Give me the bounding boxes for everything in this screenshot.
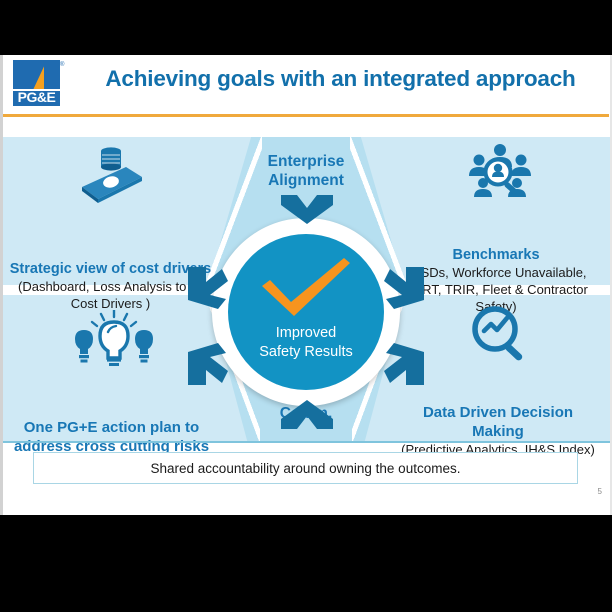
callout-box[interactable]: Shared accountability around owning the … xyxy=(33,452,578,484)
orange-checkmark-icon xyxy=(258,258,354,318)
pge-logo: PG&E ® xyxy=(13,60,65,108)
quadrant-text-bottom-right: Data Driven Decision Making (Predictive … xyxy=(396,403,600,458)
screenshot-frame: PG&E ® Achieving goals with an integrate… xyxy=(0,0,612,612)
center-label-line-2: Safety Results xyxy=(259,343,353,362)
quadrant-heading-top-right: Benchmarks xyxy=(394,247,598,264)
people-magnifier-icon xyxy=(469,143,531,199)
quadrant-detail-top-left: (Dashboard, Loss Analysis to ID Cost Dri… xyxy=(18,279,203,311)
callout-text: Shared accountability around owning the … xyxy=(151,461,461,476)
quadrant-heading-bottom-left: One PG+E action plan to address cross cu… xyxy=(8,418,215,456)
panel-bottom-rule xyxy=(3,441,610,443)
logo-wordmark: PG&E xyxy=(13,89,60,106)
presentation-slide: PG&E ® Achieving goals with an integrate… xyxy=(0,55,612,515)
center-circle-label: Improved Safety Results xyxy=(259,324,353,362)
chevron-arrow-bottom-icon xyxy=(281,400,333,430)
wedge-line-1: Enterprise xyxy=(234,152,378,171)
chevron-arrow-bottom-left-icon xyxy=(186,343,228,385)
quadrant-heading-bottom-right: Data Driven Decision Making xyxy=(396,403,600,441)
chevron-arrow-top-icon xyxy=(281,195,333,225)
wedge-label-enterprise-alignment: Enterprise Alignment xyxy=(234,152,378,190)
page-number: 5 xyxy=(598,487,602,496)
slide-header: PG&E ® Achieving goals with an integrate… xyxy=(3,55,610,117)
quadrant-text-top-left: Strategic view of cost drivers (Dashboar… xyxy=(8,260,213,312)
quadrant-text-bottom-left: One PG+E action plan to address cross cu… xyxy=(8,418,215,456)
logo-registered-mark: ® xyxy=(60,62,64,68)
chevron-arrow-bottom-right-icon xyxy=(384,343,426,385)
center-label-line-1: Improved xyxy=(259,324,353,343)
lightbulbs-icon xyxy=(74,310,154,366)
quadrant-heading-top-left: Strategic view of cost drivers xyxy=(10,261,211,277)
center-circle[interactable]: Improved Safety Results xyxy=(212,218,400,406)
center-circle-inner: Improved Safety Results xyxy=(228,234,384,390)
header-orange-rule xyxy=(3,114,609,117)
wedge-line-2: Alignment xyxy=(234,171,378,190)
chevron-arrow-top-right-icon xyxy=(384,267,426,309)
page-title: Achieving goals with an integrated appro… xyxy=(78,66,603,92)
chevron-arrow-top-left-icon xyxy=(186,267,228,309)
chart-magnifier-icon xyxy=(471,305,529,363)
money-stack-icon xyxy=(78,147,144,203)
